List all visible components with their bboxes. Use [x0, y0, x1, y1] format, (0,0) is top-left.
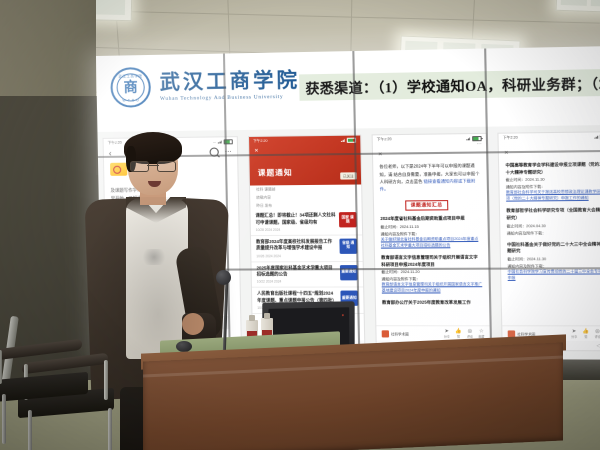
list-item-badge: 国家 课题: [339, 212, 357, 227]
slide-banner-text: 获悉渠道：（1）学校通知OA，科研业务群；（2）网络渠道: [305, 71, 600, 98]
tshirt-graphic: [140, 249, 168, 265]
doc-entry-title: 教育部语言文字信息管理司关于组织开展语言文字科研项目申报2024年度项目: [381, 254, 482, 268]
hand-right: [182, 313, 204, 335]
status-bar: 下午2:20: [249, 136, 360, 145]
seal-character: 商: [112, 77, 149, 98]
list-item-badge: 重要通知: [340, 265, 358, 280]
signal-icon: [341, 139, 345, 142]
doc-entry-deadline: 截止时间：2024.11.30: [507, 257, 600, 263]
glasses-icon: [130, 161, 176, 170]
status-time: 下午2:20: [253, 139, 268, 144]
list-item-date: 10/28 2024 2024: [256, 227, 336, 232]
list-item[interactable]: 课题汇总！即将截止！34项还剩人文社科可申请课题，国家级、省级均有 10/28 …: [250, 209, 362, 236]
doc-entry-deadline: 截止时间：2024.04.30: [507, 223, 600, 229]
thumbsup-icon[interactable]: 👍赞: [582, 328, 589, 338]
hair: [124, 132, 182, 164]
screenshot-root: 武汉工商学院 商 W T B U 武汉工商学院 Wuhan Technology…: [0, 0, 600, 450]
microphone-head-icon: [216, 270, 231, 285]
signal-icon: [594, 136, 598, 139]
doc-entry-link[interactable]: 关于做好湖北省社科基金后期资助重点项目2024年度重点社科基金艺术学重大项目招标…: [381, 237, 482, 250]
list-item-title: 教育部2024年度高校社科发展报告工作质量提升改革与增强学术建设申报: [256, 238, 337, 252]
university-seal-icon: 武汉工商学院 商 W T B U: [110, 67, 151, 108]
doc-entry-title: 中国高等教育学会学科建设申报立项课题（党的二十大精神专题研究）: [505, 161, 600, 176]
university-name-en: Wuhan Technology And Business University: [160, 93, 301, 101]
doc-entry: 教育部语言文字信息管理司关于组织开展语言文字科研项目申报2024年度项目 截止时…: [375, 252, 489, 298]
doc-entry-link[interactable]: 教育部语言文字信息管理司关于组织开展国家语言文字推广基地建设项目2024年度申报…: [382, 282, 483, 294]
screenshot-notice-detail-1: 下午2:20 ··· ✕ 各位老师，以下是2024年下半年可以申报的课题通知，请…: [371, 133, 491, 351]
university-name-cn: 武汉工商学院: [160, 70, 301, 94]
battery-icon: [472, 136, 482, 142]
doc-entry-deadline: 截止时间：2024.11.15: [381, 225, 482, 231]
list-item[interactable]: 2025年度国家社科基金艺术学重大项目招标选题的公告 10/22 2024 20…: [251, 262, 363, 289]
doc-entry-title: 2024年度省社科基金后期资助重点项目申报: [380, 216, 481, 224]
doc-entry-link[interactable]: 中国社会科学院学习宣传贯彻党的二十届三中全会专项课题申报: [507, 269, 600, 282]
list-item-title: 2025年度国家社科基金艺术学重大项目招标选题的公告: [256, 265, 337, 279]
share-icon[interactable]: ➤分享: [571, 328, 577, 338]
doc-stamp: 课题通知汇总: [405, 200, 448, 211]
list-item-badge: 省级 通知: [339, 238, 357, 253]
slide-banner: 获悉渠道：（1）学校通知OA，科研业务群；（2）网络渠道: [299, 69, 600, 101]
more-dots-icon[interactable]: ···: [476, 142, 486, 148]
doc-intro: 各位老师，以下是2024年下半年可以申报的课题通知，请 结合自身需要，准备申报，…: [373, 160, 487, 193]
slide-header: 武汉工商学院 商 W T B U 武汉工商学院 Wuhan Technology…: [96, 46, 600, 132]
comment-icon[interactable]: ◎评论: [594, 328, 600, 338]
doc-entry-deadline: 截止时间：2024.11.30: [506, 177, 600, 183]
doc-entry: 教育部办公厅关于2025年度教育改革发展工作: [376, 297, 490, 309]
list-item-title: 课题汇总！即将截止！34项还剩人文社科可申请课题，国家级、省级均有: [255, 212, 335, 226]
list-item-date: 10/22 2024 2024: [257, 280, 337, 284]
signal-icon: [466, 137, 470, 140]
nav-recents-icon[interactable]: ◁: [596, 342, 600, 348]
laptop-indicator-light: [342, 314, 344, 316]
doc-entry-link[interactable]: 教育部社会科学司关于报送高校思想政治理论课教学研究专项（党的二十大精神专题研究）…: [506, 190, 600, 203]
doc-entry: 中国高等教育学会学科建设申报立项课题（党的二十大精神专题研究） 截止时间：202…: [499, 159, 600, 206]
share-icon[interactable]: ➤分享: [444, 328, 450, 338]
list-item-date: 10/26 2024 2024: [256, 254, 336, 258]
comment-icon[interactable]: ◎评论: [467, 328, 473, 338]
doc-entry-attach-label: 通知内容及附件下载：: [507, 230, 600, 236]
list-item[interactable]: 教育部2024年度高校社科发展报告工作质量提升改革与增强学术建设申报 10/26…: [251, 235, 363, 262]
screenshot-notice-detail-2: 下午2:20 ··· ✕ 中国高等教育学会学科建设申报立项课题（党的二十大精神专…: [497, 131, 600, 351]
university-logo: 武汉工商学院 商 W T B U 武汉工商学院 Wuhan Technology…: [110, 64, 300, 108]
doc-entry-title: 中国社科基金关于做好党的二十大三中全会精神专题研究: [507, 241, 600, 255]
doc-entry: 教育部哲学社会科学研究专项（全国教育大会精神研究） 截止时间：2024.04.3…: [500, 205, 600, 239]
footer-account-name: 社科学术圈: [391, 331, 409, 336]
doc-entry-title: 教育部哲学社会科学研究专项（全国教育大会精神研究）: [506, 207, 600, 222]
doc-entry-title: 教育部办公厅关于2025年度教育改革发展工作: [382, 300, 483, 307]
doc-entry: 2024年度省社科基金后期资助重点项目申报 截止时间：2024.11.15 通知…: [374, 213, 488, 252]
doc-entry-deadline: 截止时间：2024.11.20: [381, 270, 482, 275]
notice-header-title: 课题通知: [258, 167, 293, 179]
thumbsup-icon[interactable]: 👍赞: [455, 328, 462, 338]
avatar: [382, 330, 389, 337]
doc-entry: 中国社科基金关于做好党的二十大三中全会精神专题研究 截止时间：2024.11.3…: [501, 238, 600, 284]
desk-object: [176, 341, 192, 352]
red-header: 下午2:20 ✕ 课题通知 已关注: [249, 136, 361, 186]
seal-arc-bottom: W T B U: [113, 98, 149, 103]
